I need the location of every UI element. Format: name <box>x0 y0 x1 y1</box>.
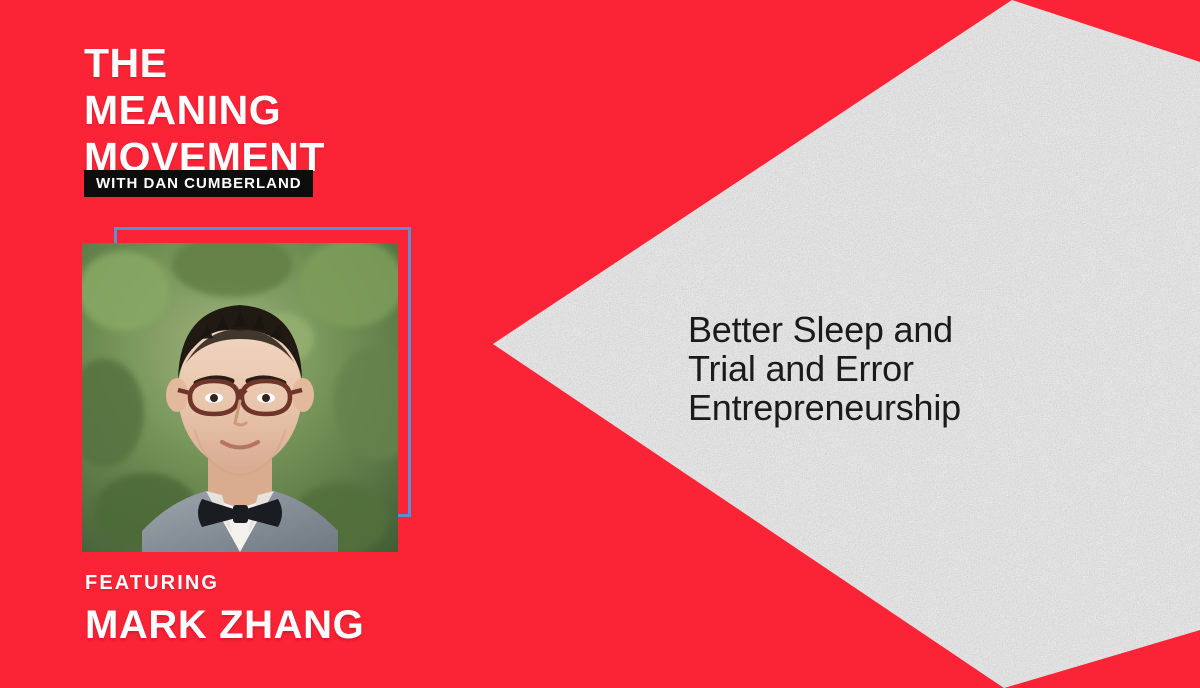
featuring-block: FEATURING MARK ZHANG <box>85 573 364 645</box>
featuring-label: FEATURING <box>85 573 364 593</box>
podcast-episode-artwork: THE MEANING MOVEMENT WITH DAN CUMBERLAND <box>0 0 1200 688</box>
guest-name: MARK ZHANG <box>85 605 364 645</box>
episode-title-line-1: Better Sleep and <box>688 310 1108 349</box>
logo-line-2: MEANING <box>84 91 504 129</box>
episode-title: Better Sleep and Trial and Error Entrepr… <box>688 310 1108 427</box>
show-logo: THE MEANING MOVEMENT <box>84 44 504 176</box>
host-tag-bar: WITH DAN CUMBERLAND <box>84 170 313 197</box>
guest-photo <box>82 243 398 552</box>
episode-title-line-2: Trial and Error <box>688 349 1108 388</box>
logo-line-1: THE <box>84 44 504 82</box>
episode-title-line-3: Entrepreneurship <box>688 388 1108 427</box>
host-tag-label: WITH DAN CUMBERLAND <box>96 176 302 191</box>
